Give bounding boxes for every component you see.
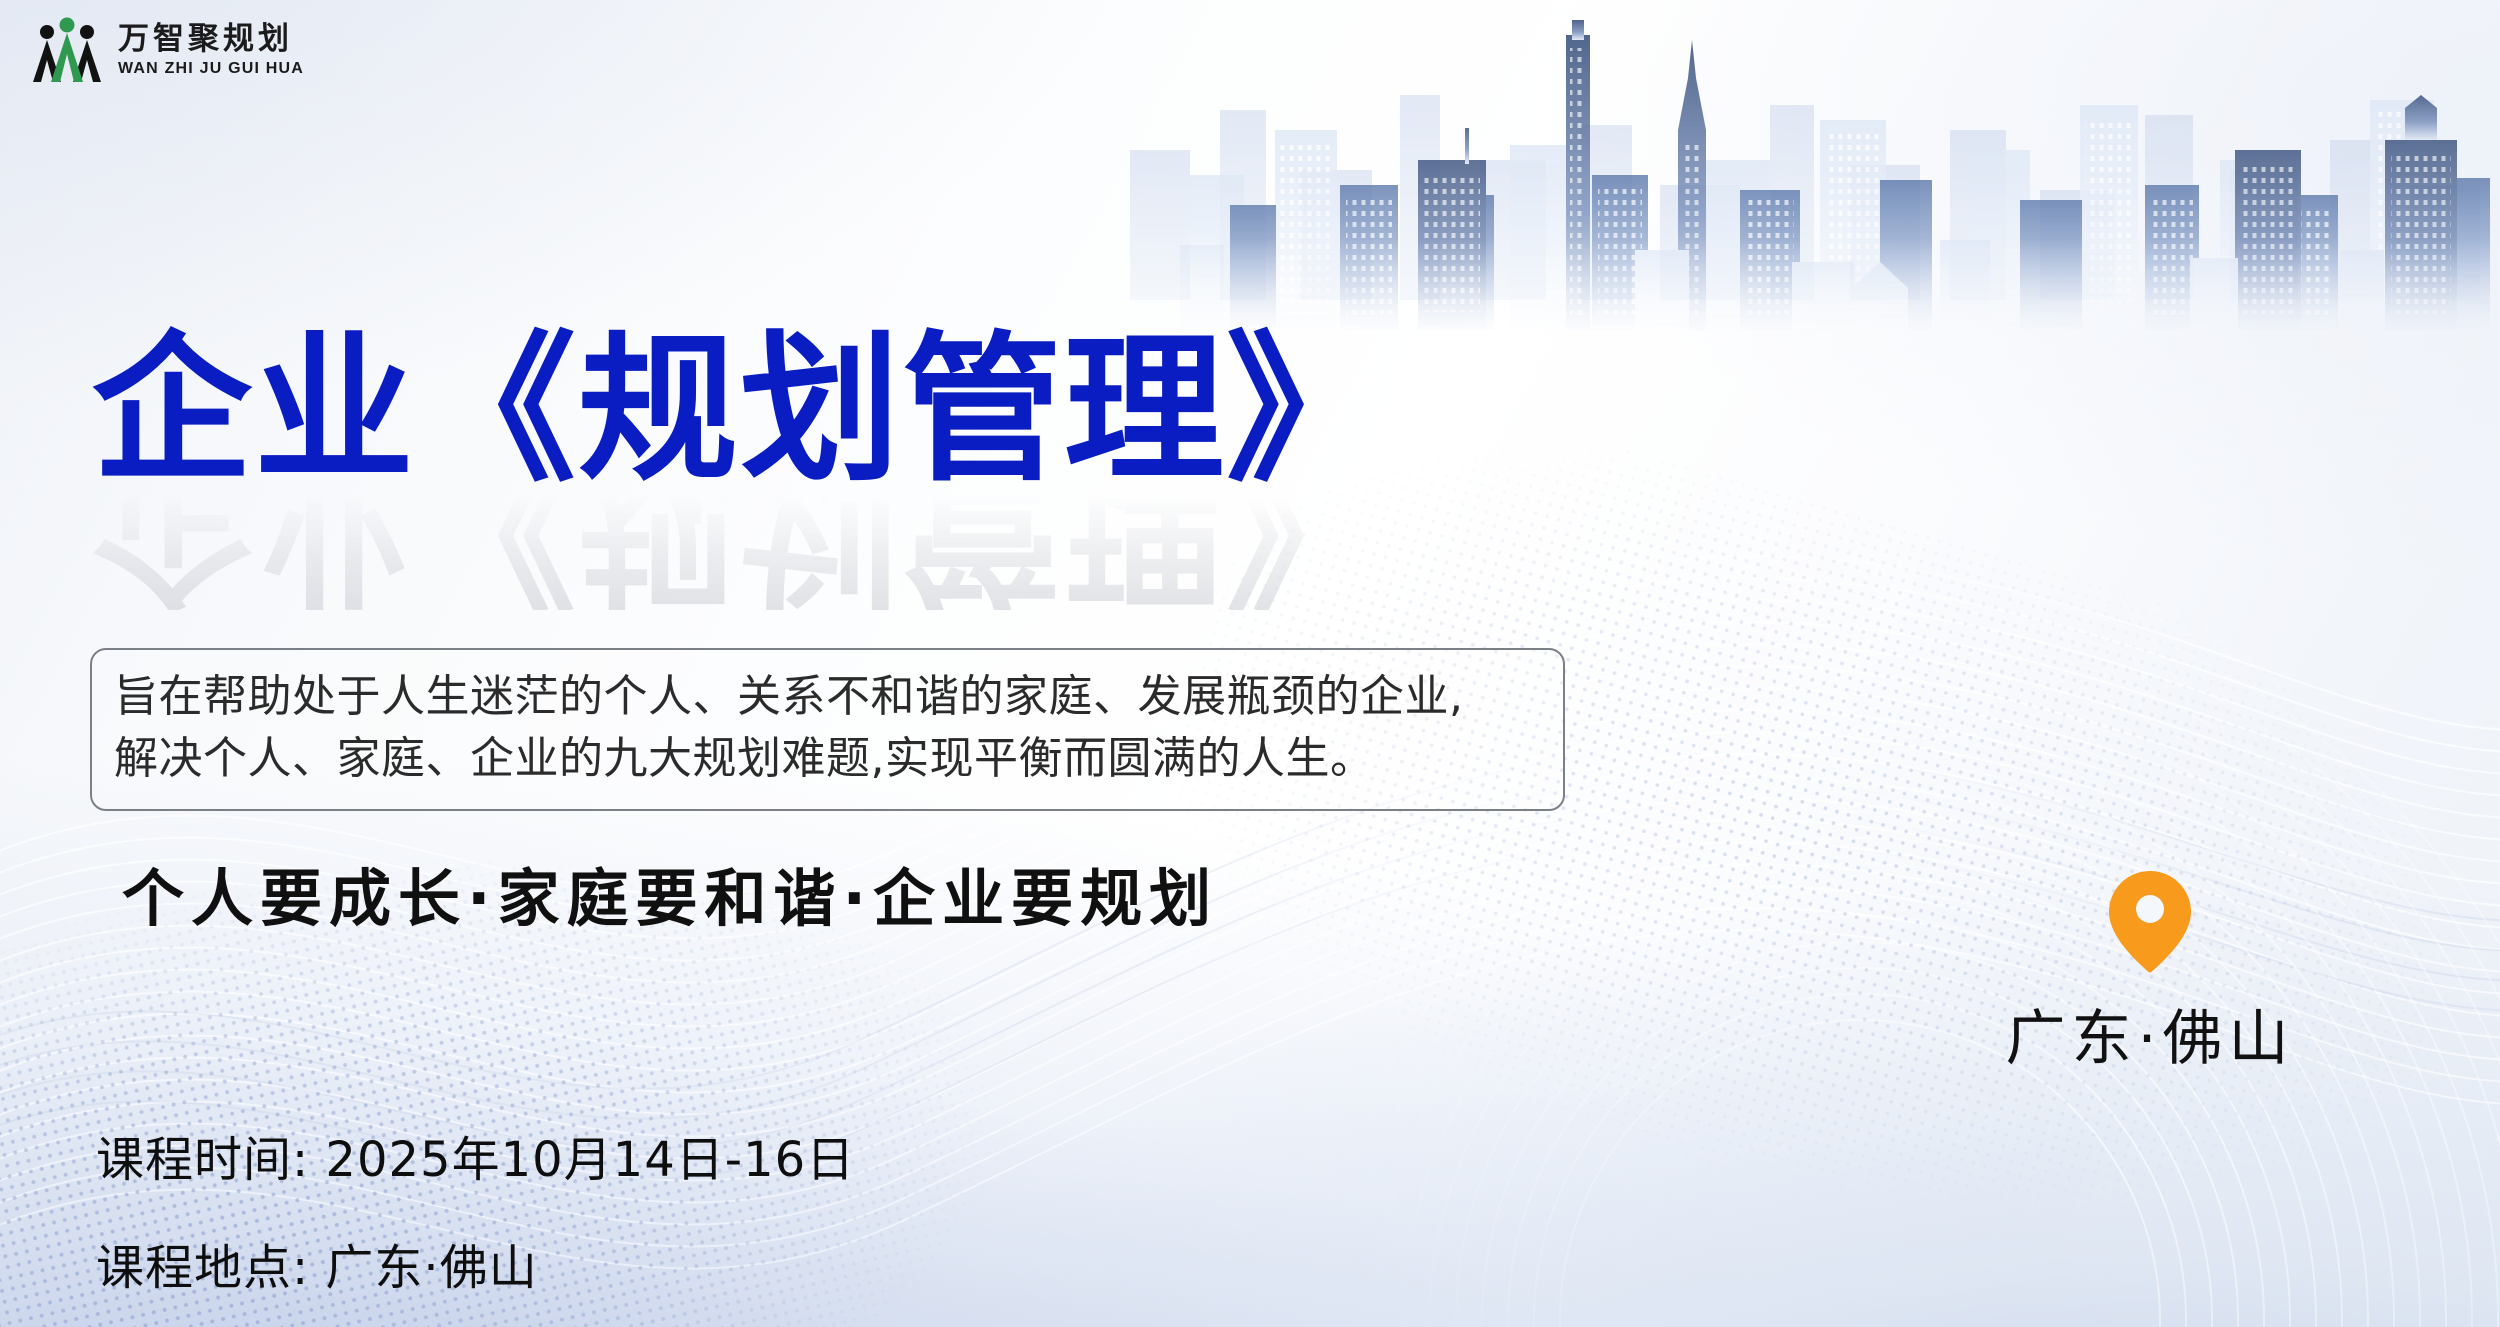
slogan-text: 个人要成长·家庭要和谐·企业要规划 (122, 848, 1218, 938)
course-meta: 课程时间: 2025年10月14日-16日 课程地点: 广东·佛山 (96, 1120, 855, 1298)
headline-block: 企业《规划管理》 企业《规划管理》 (92, 330, 1652, 610)
description-box: 旨在帮助处于人生迷茫的个人、关系不和谐的家庭、发展瓶颈的企业, 解决个人、家庭、… (90, 648, 1565, 811)
page-title-reflection: 企业《规划管理》 (92, 490, 1652, 610)
city-skyline-far (1100, 0, 2500, 300)
location-badge: 广东·佛山 (1955, 868, 2345, 1077)
brand-logo-text: 万智聚规划 WAN ZHI JU GUI HUA (118, 22, 304, 78)
page-title: 企业《规划管理》 (92, 330, 1652, 490)
poster-canvas: 万智聚规划 WAN ZHI JU GUI HUA 企业《规划管理》 企业《规划管… (0, 0, 2500, 1327)
map-pin-icon (2107, 868, 2193, 974)
course-place: 课程地点: 广东·佛山 (96, 1228, 855, 1298)
brand-logo[interactable]: 万智聚规划 WAN ZHI JU GUI HUA (30, 14, 304, 86)
description-line-2: 解决个人、家庭、企业的九大规划难题,实现平衡而圆满的人生。 (114, 728, 1541, 790)
brand-name-cn: 万智聚规划 (118, 22, 304, 57)
location-label: 广东·佛山 (1955, 990, 2345, 1077)
city-skyline-near (1180, 0, 2500, 330)
course-date: 课程时间: 2025年10月14日-16日 (96, 1120, 855, 1190)
brand-name-en: WAN ZHI JU GUI HUA (118, 60, 304, 78)
three-people-logo-icon (30, 14, 104, 86)
description-line-1: 旨在帮助处于人生迷茫的个人、关系不和谐的家庭、发展瓶颈的企业, (114, 666, 1541, 728)
